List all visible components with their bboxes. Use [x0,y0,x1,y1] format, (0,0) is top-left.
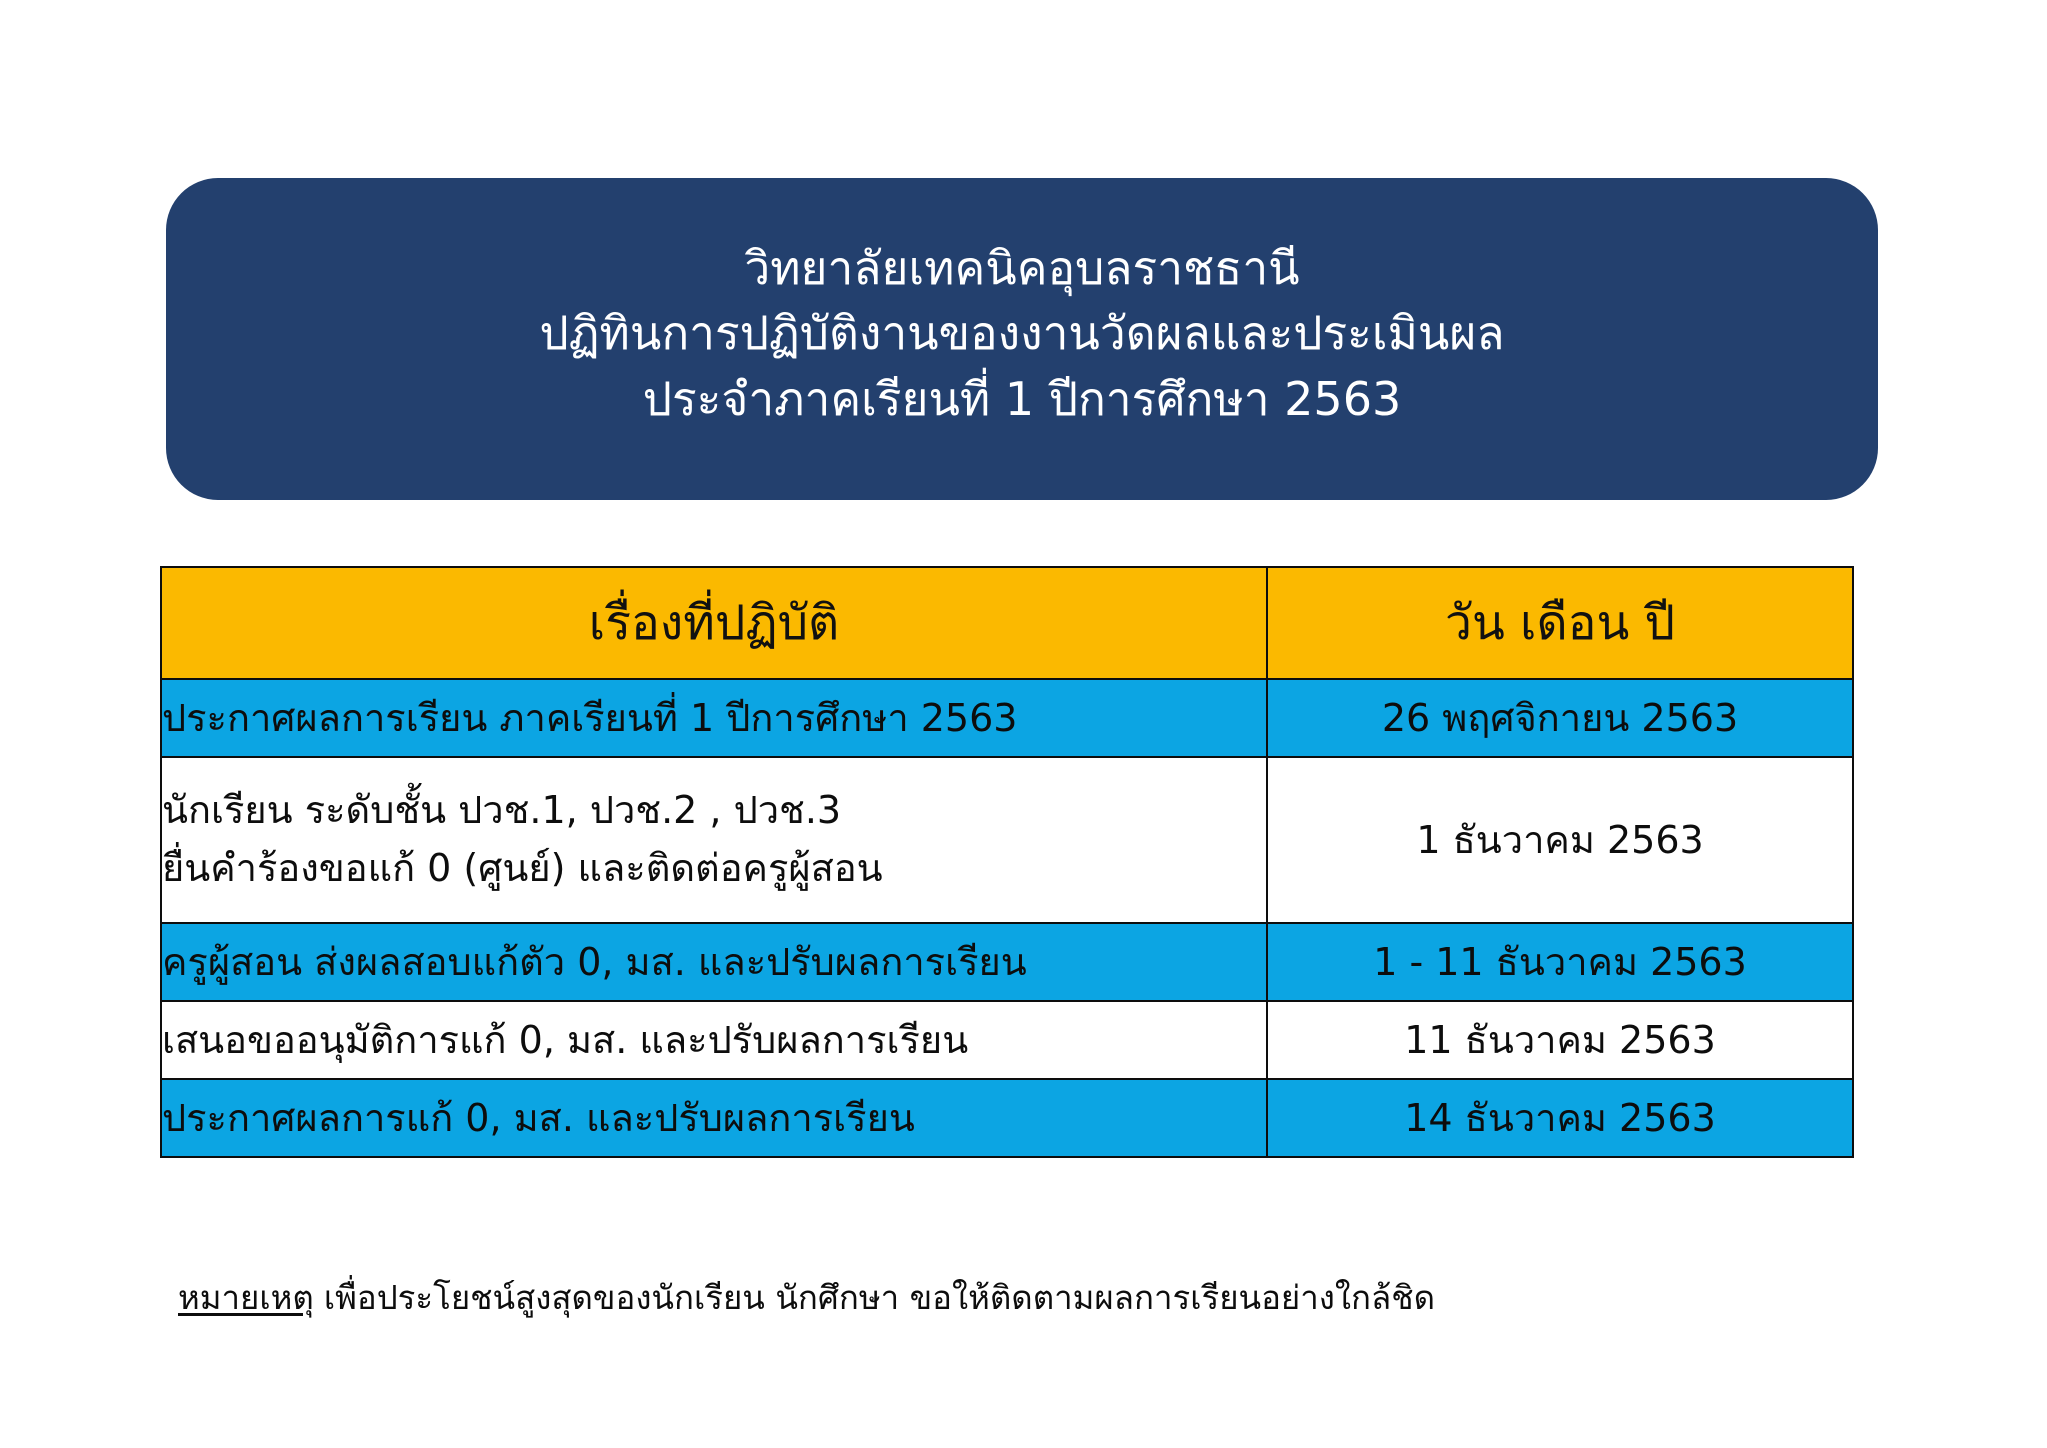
table-row: ประกาศผลการเรียน ภาคเรียนที่ 1 ปีการศึกษ… [161,679,1853,757]
table-row: เสนอขออนุมัติการแก้ 0, มส. และปรับผลการเ… [161,1001,1853,1079]
title-banner: วิทยาลัยเทคนิคอุบลราชธานี ปฏิทินการปฏิบั… [166,178,1878,500]
topic-text: นักเรียน ระดับชั้น ปวช.1, ปวช.2 , ปวช.3 [162,784,1266,836]
topic-text: ประกาศผลการแก้ 0, มส. และปรับผลการเรียน [162,1092,1266,1144]
date-text: 14 ธันวาคม 2563 [1268,1092,1852,1144]
footer-note: หมายเหตุเพื่อประโยชน์สูงสุดของนักเรียน น… [178,1277,1878,1320]
calendar-table: เรื่องที่ปฏิบัติ วัน เดือน ปี ประกาศผลกา… [160,566,1854,1158]
cell-topic: ประกาศผลการเรียน ภาคเรียนที่ 1 ปีการศึกษ… [161,679,1267,757]
date-text: 1 - 11 ธันวาคม 2563 [1268,936,1852,988]
topic-text-second-line: ยื่นคำร้องขอแก้ 0 (ศูนย์) และติดต่อครูผู… [162,842,1266,894]
cell-topic: นักเรียน ระดับชั้น ปวช.1, ปวช.2 , ปวช.3 … [161,757,1267,923]
term-subtitle: ประจำภาคเรียนที่ 1 ปีการศึกษา 2563 [643,367,1401,432]
document-title: ปฏิทินการปฏิบัติงานของงานวัดผลและประเมิน… [539,301,1504,366]
footer-note-body: เพื่อประโยชน์สูงสุดของนักเรียน นักศึกษา … [324,1278,1435,1317]
cell-date: 26 พฤศจิกายน 2563 [1267,679,1853,757]
cell-date: 1 ธันวาคม 2563 [1267,757,1853,923]
date-text: 11 ธันวาคม 2563 [1268,1014,1852,1066]
document-page: วิทยาลัยเทคนิคอุบลราชธานี ปฏิทินการปฏิบั… [0,0,2047,1448]
table-row: ครูผู้สอน ส่งผลสอบแก้ตัว 0, มส. และปรับผ… [161,923,1853,1001]
cell-topic: ประกาศผลการแก้ 0, มส. และปรับผลการเรียน [161,1079,1267,1157]
footer-note-label: หมายเหตุ [178,1278,314,1317]
table-header-row: เรื่องที่ปฏิบัติ วัน เดือน ปี [161,567,1853,679]
cell-date: 11 ธันวาคม 2563 [1267,1001,1853,1079]
column-header-date: วัน เดือน ปี [1267,567,1853,679]
cell-date: 1 - 11 ธันวาคม 2563 [1267,923,1853,1001]
institution-name: วิทยาลัยเทคนิคอุบลราชธานี [744,236,1299,301]
column-header-topic: เรื่องที่ปฏิบัติ [161,567,1267,679]
cell-date: 14 ธันวาคม 2563 [1267,1079,1853,1157]
cell-topic: เสนอขออนุมัติการแก้ 0, มส. และปรับผลการเ… [161,1001,1267,1079]
date-text: 1 ธันวาคม 2563 [1268,814,1852,866]
topic-text: ครูผู้สอน ส่งผลสอบแก้ตัว 0, มส. และปรับผ… [162,936,1266,988]
column-header-date-label: วัน เดือน ปี [1268,597,1852,650]
topic-text: ประกาศผลการเรียน ภาคเรียนที่ 1 ปีการศึกษ… [162,692,1266,744]
table-row: ประกาศผลการแก้ 0, มส. และปรับผลการเรียน … [161,1079,1853,1157]
column-header-topic-label: เรื่องที่ปฏิบัติ [162,597,1266,650]
date-text: 26 พฤศจิกายน 2563 [1268,692,1852,744]
table-row: นักเรียน ระดับชั้น ปวช.1, ปวช.2 , ปวช.3 … [161,757,1853,923]
cell-topic: ครูผู้สอน ส่งผลสอบแก้ตัว 0, มส. และปรับผ… [161,923,1267,1001]
topic-text: เสนอขออนุมัติการแก้ 0, มส. และปรับผลการเ… [162,1014,1266,1066]
